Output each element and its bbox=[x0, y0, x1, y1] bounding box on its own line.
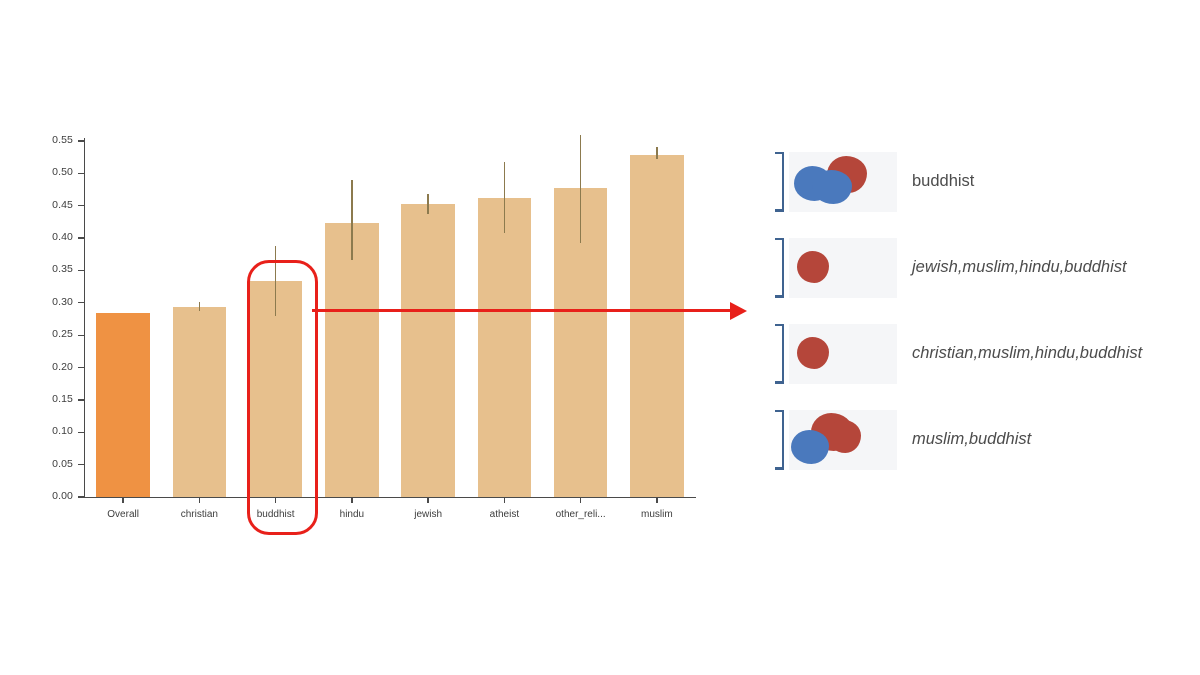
legend-row[interactable]: buddhist bbox=[770, 150, 1190, 213]
y-tick-mark bbox=[78, 205, 84, 206]
x-tick-label-overall: Overall bbox=[107, 509, 139, 520]
y-tick-mark bbox=[78, 140, 84, 141]
x-tick-label-atheist: atheist bbox=[490, 509, 519, 520]
x-tick-mark bbox=[427, 497, 428, 503]
cluster-red-single-icon bbox=[789, 238, 897, 298]
annotation-arrow-head bbox=[730, 302, 747, 320]
y-tick-label: 0.00 bbox=[29, 490, 73, 502]
cluster-blob-red bbox=[797, 251, 829, 283]
bar-atheist[interactable] bbox=[478, 198, 531, 497]
error-bar-christian bbox=[199, 302, 200, 311]
y-tick-mark bbox=[78, 173, 84, 174]
bracket-icon bbox=[770, 324, 784, 384]
y-tick-label: 0.25 bbox=[29, 328, 73, 340]
y-axis-spine bbox=[84, 138, 85, 498]
legend-row[interactable]: jewish,muslim,hindu,buddhist bbox=[770, 236, 1190, 299]
legend-row[interactable]: christian,muslim,hindu,buddhist bbox=[770, 322, 1190, 385]
y-tick-mark bbox=[78, 302, 84, 303]
y-tick-mark bbox=[78, 237, 84, 238]
cluster-red-blue-icon bbox=[789, 410, 897, 470]
screenshot-root: 0.000.050.100.150.200.250.300.350.400.45… bbox=[0, 0, 1200, 675]
error-bar-other-reli- bbox=[580, 135, 581, 243]
annotation-arrow-line bbox=[312, 309, 737, 312]
y-tick-label: 0.10 bbox=[29, 425, 73, 437]
y-tick-label: 0.15 bbox=[29, 393, 73, 405]
legend-row[interactable]: muslim,buddhist bbox=[770, 408, 1190, 471]
bracket-icon bbox=[770, 152, 784, 212]
y-tick-mark bbox=[78, 496, 84, 497]
y-tick-mark bbox=[78, 335, 84, 336]
bar-overall[interactable] bbox=[96, 313, 149, 497]
legend-label: christian,muslim,hindu,buddhist bbox=[912, 344, 1142, 363]
bar-hindu[interactable] bbox=[325, 223, 378, 497]
x-tick-label-other-reli-: other_reli... bbox=[556, 509, 606, 520]
cluster-blob-blue bbox=[791, 430, 829, 464]
y-tick-mark bbox=[78, 464, 84, 465]
error-bar-atheist bbox=[504, 162, 505, 233]
cluster-blue-red-icon bbox=[789, 152, 897, 212]
legend-label: muslim,buddhist bbox=[912, 430, 1031, 449]
y-tick-label: 0.35 bbox=[29, 263, 73, 275]
x-tick-mark bbox=[580, 497, 581, 503]
y-tick-label: 0.40 bbox=[29, 231, 73, 243]
y-tick-mark bbox=[78, 270, 84, 271]
cluster-blob-red bbox=[797, 337, 829, 369]
y-tick-label: 0.05 bbox=[29, 458, 73, 470]
legend-label: jewish,muslim,hindu,buddhist bbox=[912, 258, 1127, 277]
error-bar-muslim bbox=[656, 147, 657, 159]
error-bar-jewish bbox=[427, 194, 428, 214]
x-tick-label-muslim: muslim bbox=[641, 509, 673, 520]
error-bar-hindu bbox=[351, 180, 352, 260]
bracket-icon bbox=[770, 410, 784, 470]
bar-christian[interactable] bbox=[173, 307, 226, 497]
x-tick-mark bbox=[199, 497, 200, 503]
y-tick-label: 0.45 bbox=[29, 199, 73, 211]
x-tick-mark bbox=[351, 497, 352, 503]
y-tick-label: 0.20 bbox=[29, 361, 73, 373]
y-tick-label: 0.55 bbox=[29, 134, 73, 146]
legend-label: buddhist bbox=[912, 172, 974, 191]
bar-jewish[interactable] bbox=[401, 204, 454, 497]
bracket-icon bbox=[770, 238, 784, 298]
cluster-legend-panel: buddhistjewish,muslim,hindu,buddhistchri… bbox=[770, 150, 1190, 494]
cluster-red-single-icon bbox=[789, 324, 897, 384]
highlight-box-buddhist bbox=[247, 260, 318, 535]
x-tick-label-christian: christian bbox=[181, 509, 218, 520]
y-tick-label: 0.50 bbox=[29, 166, 73, 178]
y-tick-mark bbox=[78, 367, 84, 368]
cluster-blob-red bbox=[827, 420, 861, 453]
bar-muslim[interactable] bbox=[630, 155, 683, 497]
y-tick-mark bbox=[78, 399, 84, 400]
x-tick-mark bbox=[122, 497, 123, 503]
x-tick-label-jewish: jewish bbox=[414, 509, 442, 520]
y-tick-label: 0.30 bbox=[29, 296, 73, 308]
y-tick-mark bbox=[78, 432, 84, 433]
bar-chart: 0.000.050.100.150.200.250.300.350.400.45… bbox=[0, 0, 730, 560]
x-tick-mark bbox=[656, 497, 657, 503]
x-tick-label-hindu: hindu bbox=[340, 509, 364, 520]
cluster-blob-blue bbox=[812, 170, 852, 204]
x-tick-mark bbox=[504, 497, 505, 503]
